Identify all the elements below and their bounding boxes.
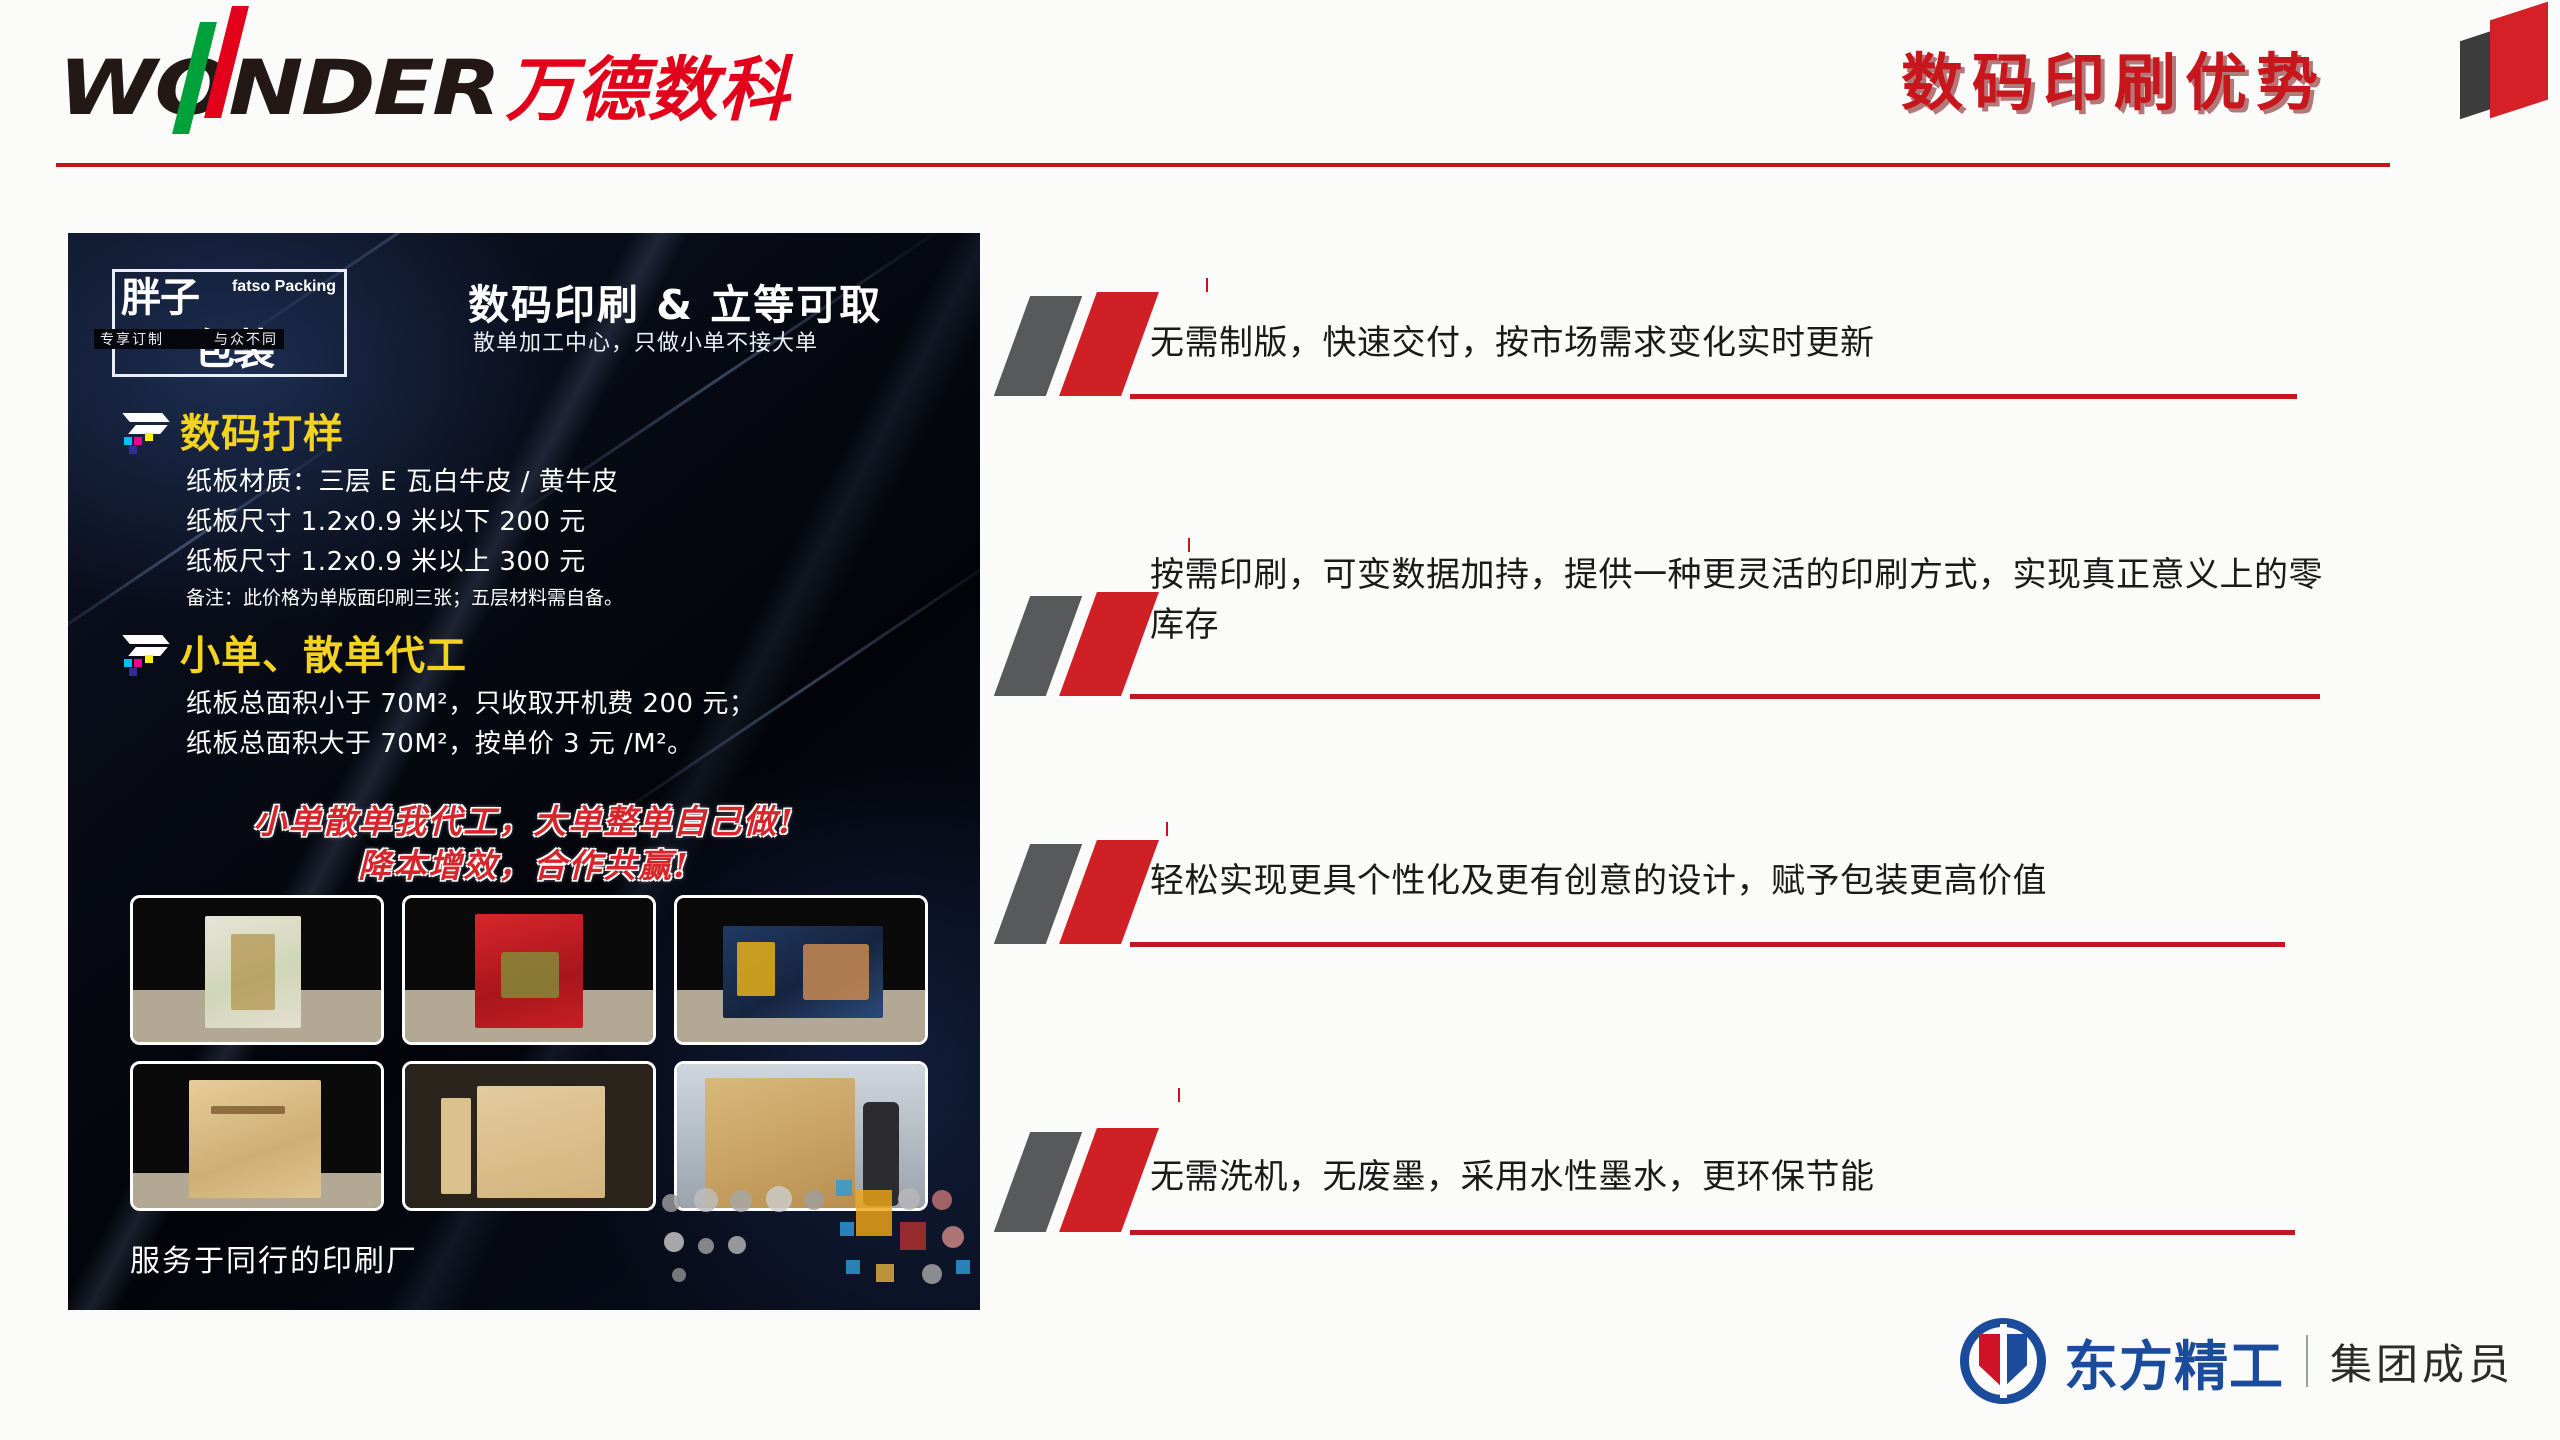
header-divider	[56, 163, 2390, 167]
product-photo	[402, 895, 656, 1045]
poster-headline: 数码印刷 & 立等可取	[468, 271, 882, 331]
fatso-logo-tagline: 专享订制 与众不同	[94, 329, 284, 349]
logo-white-bar	[2000, 1324, 2007, 1398]
poster-section2-line2: 纸板总面积大于 70M²，按单价 3 元 /M²。	[186, 723, 694, 760]
poster-section2-line1: 纸板总面积小于 70M²，只收取开机费 200 元；	[186, 683, 755, 720]
bullet-tick	[1206, 278, 1208, 292]
advantage-text-4: 无需洗机，无废墨，采用水性墨水，更环保节能	[1150, 1152, 1875, 1202]
bullet-underline	[1130, 394, 2297, 399]
poster-subheadline: 散单加工中心，只做小单不接大单	[473, 325, 818, 357]
poster-slogan-line2: 降本增效，合作共赢!	[68, 839, 980, 887]
brand-logo-latin: WONDER	[58, 43, 499, 132]
brand-logo: WONDER 万德数科	[58, 34, 790, 135]
advantage-text-3: 轻松实现更具个性化及更有创意的设计，赋予包装更高价值	[1150, 856, 2047, 906]
bullet-underline	[1130, 942, 2285, 947]
bullet-tick	[1178, 1088, 1180, 1102]
corner-ribbon-icon	[2456, 2, 2552, 117]
fatso-packing-logo: 胖子 fatso Packing 包装	[112, 269, 347, 377]
dongfang-jinggong-icon	[1960, 1318, 2046, 1404]
dot-pattern-decoration	[650, 1160, 980, 1310]
chevron-arrow-icon	[120, 409, 176, 457]
group-member-label: 集团成员	[2330, 1331, 2514, 1392]
advantage-text-2: 按需印刷，可变数据加持，提供一种更灵活的印刷方式，实现真正意义上的零库存	[1150, 550, 2340, 651]
poster-section1-line3: 纸板尺寸 1.2x0.9 米以上 300 元	[186, 541, 586, 578]
fatso-tagline-left: 专享订制	[100, 329, 164, 349]
product-photo	[674, 895, 928, 1045]
bullet-underline	[1130, 1230, 2295, 1235]
bullet-tick	[1166, 822, 1168, 836]
footer-divider	[2306, 1335, 2308, 1387]
slide-header: WONDER 万德数科 数码印刷优势	[0, 0, 2560, 175]
group-member-logo: 东方精工 集团成员	[1960, 1318, 2514, 1404]
product-photo	[130, 1061, 384, 1211]
poster-footer-text: 服务于同行的印刷厂	[130, 1236, 418, 1280]
brand-logo-chinese: 万德数科	[506, 34, 790, 135]
product-photo	[402, 1061, 656, 1211]
company-name: 东方精工	[2064, 1322, 2284, 1401]
corner-ribbon-gray	[2460, 31, 2492, 119]
chevron-arrow-icon	[120, 631, 176, 679]
poster-section-title-2: 小单、散单代工	[180, 623, 467, 681]
advantage-text-1: 无需制版，快速交付，按市场需求变化实时更新	[1150, 318, 1875, 368]
poster-slogan-line1: 小单散单我代工，大单整单自己做!	[68, 795, 980, 843]
corner-ribbon-red	[2490, 2, 2548, 119]
bullet-underline	[1130, 694, 2320, 699]
product-photo	[130, 895, 384, 1045]
poster-section1-line2: 纸板尺寸 1.2x0.9 米以下 200 元	[186, 501, 586, 538]
fatso-tagline-right: 与众不同	[214, 329, 278, 349]
promo-poster-image: 胖子 fatso Packing 包装 专享订制 与众不同 数码印刷 & 立等可…	[68, 233, 980, 1310]
fatso-logo-english: fatso Packing	[232, 278, 336, 296]
poster-section1-line1: 纸板材质：三层 E 瓦白牛皮 / 黄牛皮	[186, 461, 618, 498]
poster-section-title-1: 数码打样	[180, 401, 344, 459]
poster-section1-note: 备注：此价格为单版面印刷三张；五层材料需自备。	[186, 583, 623, 610]
page-title: 数码印刷优势	[1901, 32, 2327, 122]
